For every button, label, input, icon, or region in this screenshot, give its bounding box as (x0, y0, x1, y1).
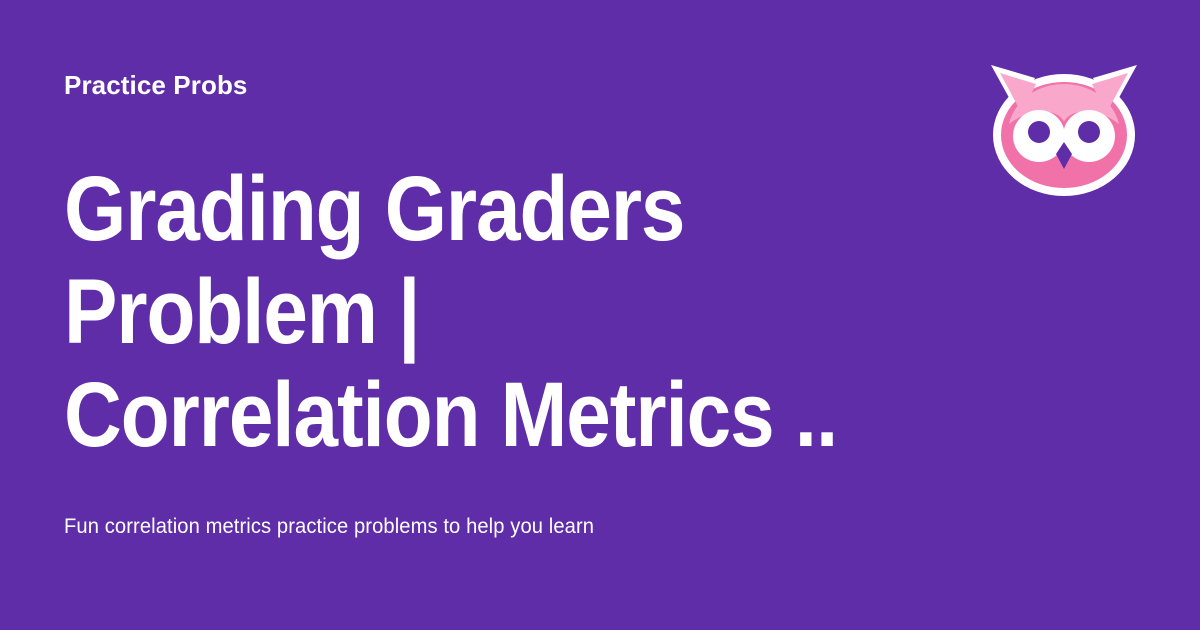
owl-icon (988, 62, 1140, 196)
page-subtitle: Fun correlation metrics practice problem… (64, 512, 594, 542)
brand-label: Practice Probs (64, 68, 248, 102)
og-preview-card: Practice Probs Grading Graders Problem |… (0, 0, 1200, 630)
owl-logo (988, 62, 1140, 196)
page-title-line-3: Correlation Metrics .. (64, 364, 830, 467)
page-title: Grading Graders Problem | Correlation Me… (64, 158, 944, 467)
owl-pupil-left (1028, 121, 1050, 143)
owl-pupil-right (1078, 121, 1100, 143)
page-title-line-2: Problem | (64, 261, 830, 364)
page-title-line-1: Grading Graders (64, 158, 830, 261)
